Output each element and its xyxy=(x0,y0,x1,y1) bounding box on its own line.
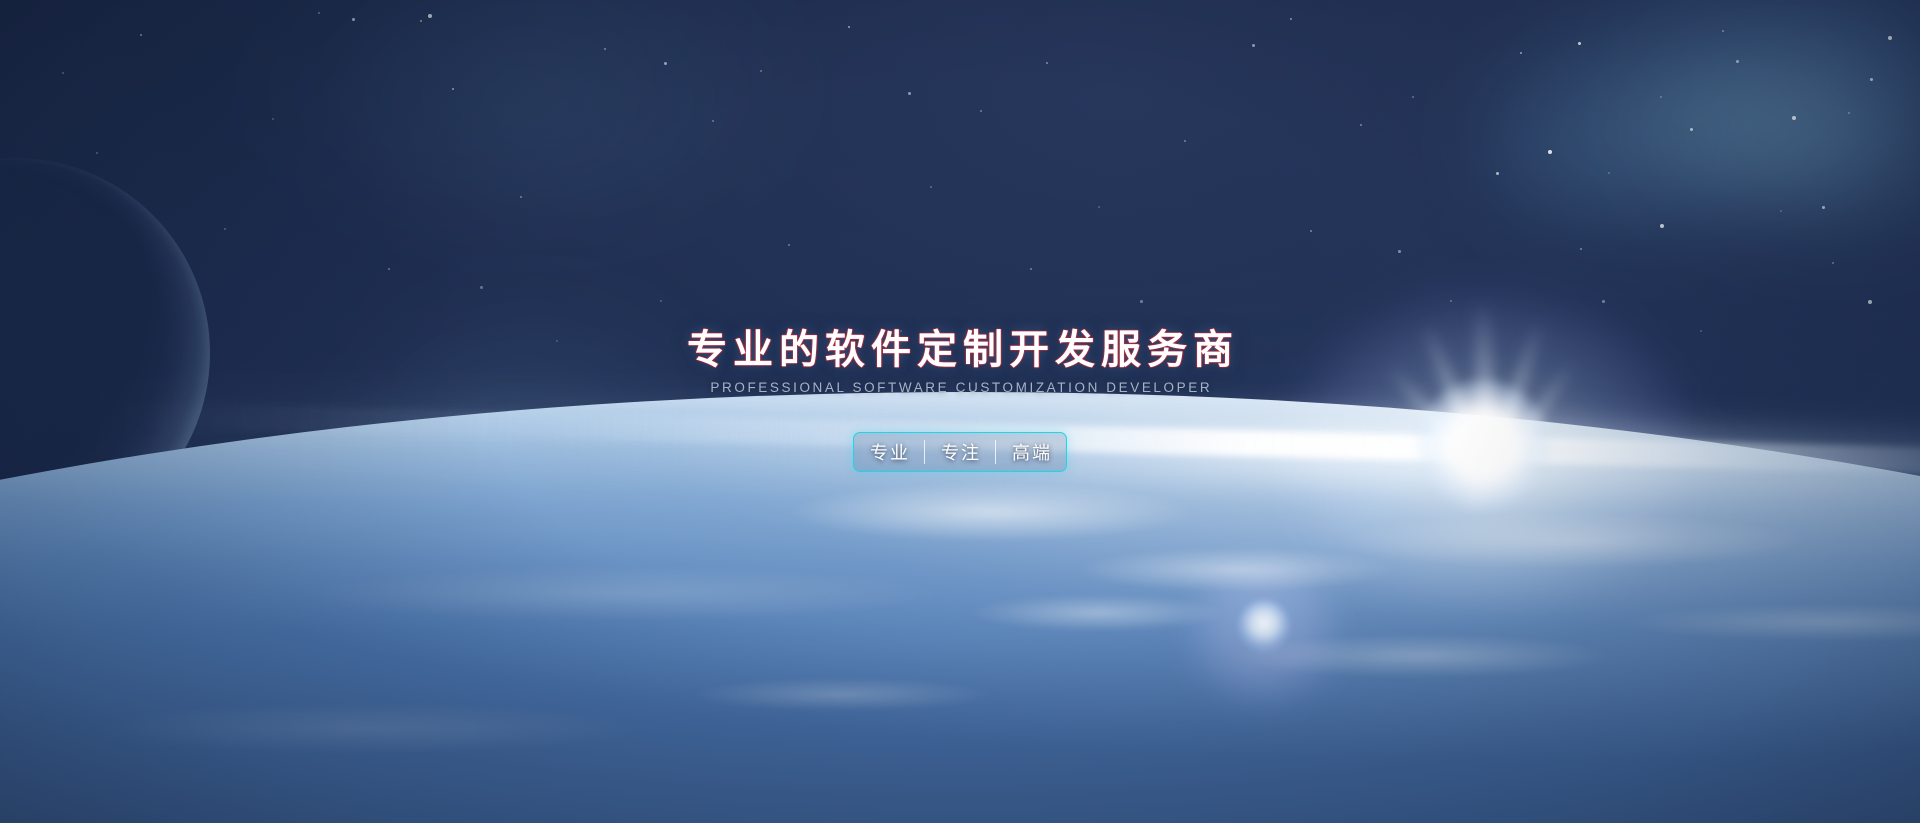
feature-badge: 专业 专注 高端 xyxy=(853,432,1067,472)
hero-subtitle: PROFESSIONAL SOFTWARE CUSTOMIZATION DEVE… xyxy=(0,378,1920,398)
hero-banner: 专业的软件定制开发服务商 PROFESSIONAL SOFTWARE CUSTO… xyxy=(0,0,1920,823)
badge-item-professional[interactable]: 专业 xyxy=(854,433,924,471)
badge-item-highend[interactable]: 高端 xyxy=(996,433,1066,471)
hero-badge-group: 专业 专注 高端 xyxy=(0,432,1920,472)
hero-title: 专业的软件定制开发服务商 xyxy=(0,328,1920,372)
badge-item-focused[interactable]: 专注 xyxy=(925,433,995,471)
